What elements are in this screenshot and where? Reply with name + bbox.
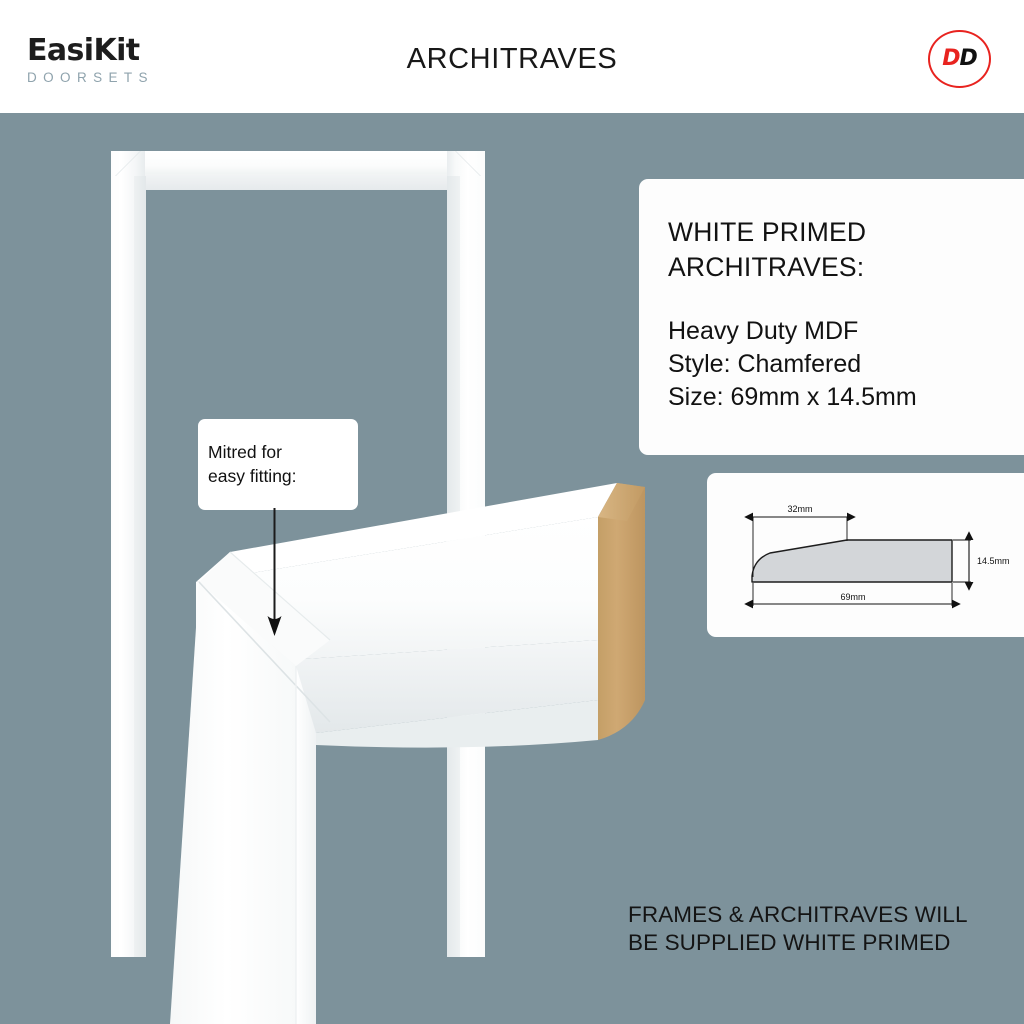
product-infographic: EasiKit DOORSETS ARCHITRAVES DD [0, 0, 1024, 1024]
door-frame-mitre-right [451, 151, 485, 176]
product-info-heading-line-1: WHITE PRIMED [668, 215, 1024, 250]
architrave-profile-diagram: 32mm 14.5mm 69mm [707, 473, 1024, 637]
dd-badge-letter-first: D [942, 48, 959, 70]
product-info-heading-line-2: ARCHITRAVES: [668, 250, 1024, 285]
spec-style: Style: Chamfered [668, 348, 1024, 381]
architrave-leg-chamfer [296, 666, 316, 1024]
dim-label-bottom: 69mm [840, 592, 865, 602]
architrave-leg-top-bevel [199, 552, 330, 666]
architrave-leg-face [170, 582, 296, 1024]
door-frame-left-jamb-inner-edge [134, 176, 146, 957]
callout-arrow-icon [266, 508, 284, 638]
dd-badge-letter-second: D [960, 48, 977, 70]
door-frame-right-jamb-inner-edge [447, 176, 460, 957]
footer-note-line-2: BE SUPPLIED WHITE PRIMED [628, 929, 988, 957]
mdf-end-grain-edge [598, 483, 645, 740]
spec-material: Heavy Duty MDF [668, 315, 1024, 348]
spec-size: Size: 69mm x 14.5mm [668, 381, 1024, 414]
door-frame-head [111, 151, 485, 176]
footer-note-line-1: FRAMES & ARCHITRAVES WILL [628, 901, 988, 929]
mitred-callout-line-2: easy fitting: [208, 465, 358, 488]
header-bar: EasiKit DOORSETS ARCHITRAVES DD [0, 0, 1024, 113]
mdf-end-grain-top [598, 483, 645, 521]
product-info-specs: Heavy Duty MDF Style: Chamfered Size: 69… [668, 315, 1024, 415]
mitred-callout-box: Mitred for easy fitting: [198, 419, 358, 510]
mitred-callout-line-1: Mitred for [208, 441, 358, 464]
footer-note: FRAMES & ARCHITRAVES WILL BE SUPPLIED WH… [628, 901, 988, 958]
door-frame-head-inner-edge [137, 174, 459, 190]
product-info-card: WHITE PRIMED ARCHITRAVES: Heavy Duty MDF… [639, 179, 1024, 455]
mitre-joint-line [199, 582, 330, 722]
dim-label-top: 32mm [787, 504, 812, 514]
architrave-head-face [196, 517, 598, 666]
profile-diagram-card: 32mm 14.5mm 69mm [707, 473, 1024, 637]
product-info-heading: WHITE PRIMED ARCHITRAVES: [668, 215, 1024, 285]
page-title: ARCHITRAVES [0, 43, 1024, 76]
dim-label-right: 14.5mm [977, 556, 1010, 566]
profile-cross-section [752, 540, 952, 582]
mitred-callout-text: Mitred for easy fitting: [198, 441, 358, 487]
architrave-head-chamfer [196, 640, 598, 733]
door-frame-mitre-left [111, 151, 145, 176]
dd-logo-badge[interactable]: DD [928, 30, 991, 88]
